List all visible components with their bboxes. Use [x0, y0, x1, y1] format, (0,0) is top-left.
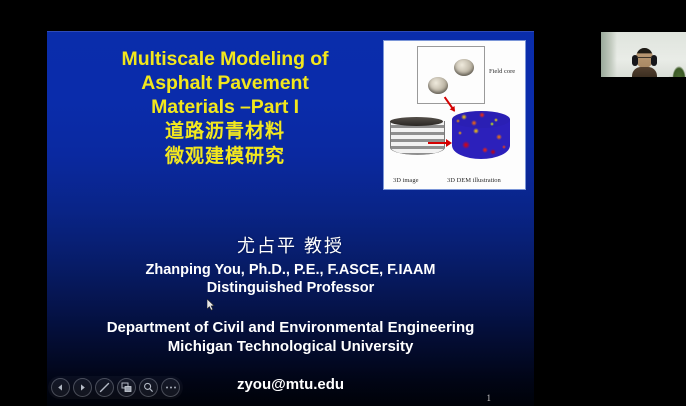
- presenter-torso: [632, 67, 657, 77]
- three-d-dem-cylinder: [452, 111, 510, 163]
- screen-share-stage: Multiscale Modeling of Asphalt Pavement …: [0, 0, 686, 406]
- slide-title-line-2: Asphalt Pavement: [65, 71, 385, 95]
- core-hole-right: [454, 59, 474, 76]
- university-line: Michigan Technological University: [47, 338, 534, 355]
- presenter-video-thumbnail[interactable]: [601, 5, 686, 77]
- slide-title-line-1: Multiscale Modeling of: [65, 47, 385, 71]
- slide-grid-button[interactable]: [117, 378, 136, 397]
- annotate-button[interactable]: [95, 378, 114, 397]
- ellipsis-icon: [165, 385, 177, 390]
- speaker-credentials: Zhanping You, Ph.D., P.E., F.ASCE, F.IAA…: [47, 262, 534, 278]
- arrow-image-to-dem-icon: [428, 142, 447, 144]
- presentation-slide[interactable]: Multiscale Modeling of Asphalt Pavement …: [47, 31, 534, 406]
- speaker-title: Distinguished Professor: [47, 280, 534, 296]
- next-icon: [78, 383, 87, 392]
- more-options-button[interactable]: [161, 378, 180, 397]
- pen-icon: [98, 381, 111, 394]
- magnifier-icon: [143, 382, 154, 393]
- next-slide-button[interactable]: [73, 378, 92, 397]
- presenter-avatar: [632, 48, 657, 77]
- figure-panel: Field core 3D image 3D DEM illustration: [383, 40, 526, 190]
- slide-title-block: Multiscale Modeling of Asphalt Pavement …: [65, 47, 385, 169]
- field-core-photo: [417, 46, 485, 104]
- figure-label-3d-dem: 3D DEM illustration: [447, 177, 501, 184]
- figure-label-field-core: Field core: [489, 68, 515, 75]
- department-line: Department of Civil and Environmental En…: [47, 319, 534, 336]
- zoom-button[interactable]: [139, 378, 158, 397]
- webcam-video-frame: [601, 32, 686, 77]
- slide-title-cn-line-1: 道路沥青材料: [65, 119, 385, 144]
- slide-title-cn-line-2: 微观建模研究: [65, 144, 385, 169]
- glasses-icon: [637, 57, 652, 61]
- slide-page-number: 1: [487, 393, 492, 403]
- grid-icon: [121, 382, 132, 393]
- mouse-cursor-icon: [207, 299, 215, 311]
- figure-label-3d-image: 3D image: [393, 177, 418, 184]
- previous-icon: [56, 383, 65, 392]
- previous-slide-button[interactable]: [51, 378, 70, 397]
- core-hole-left: [428, 77, 448, 94]
- slide-title-line-3: Materials –Part I: [65, 95, 385, 119]
- three-d-image-cylinder: [390, 117, 443, 159]
- speaker-name-chinese: 尤占平 教授: [47, 232, 534, 258]
- slide-navigation-toolbar[interactable]: [48, 376, 183, 399]
